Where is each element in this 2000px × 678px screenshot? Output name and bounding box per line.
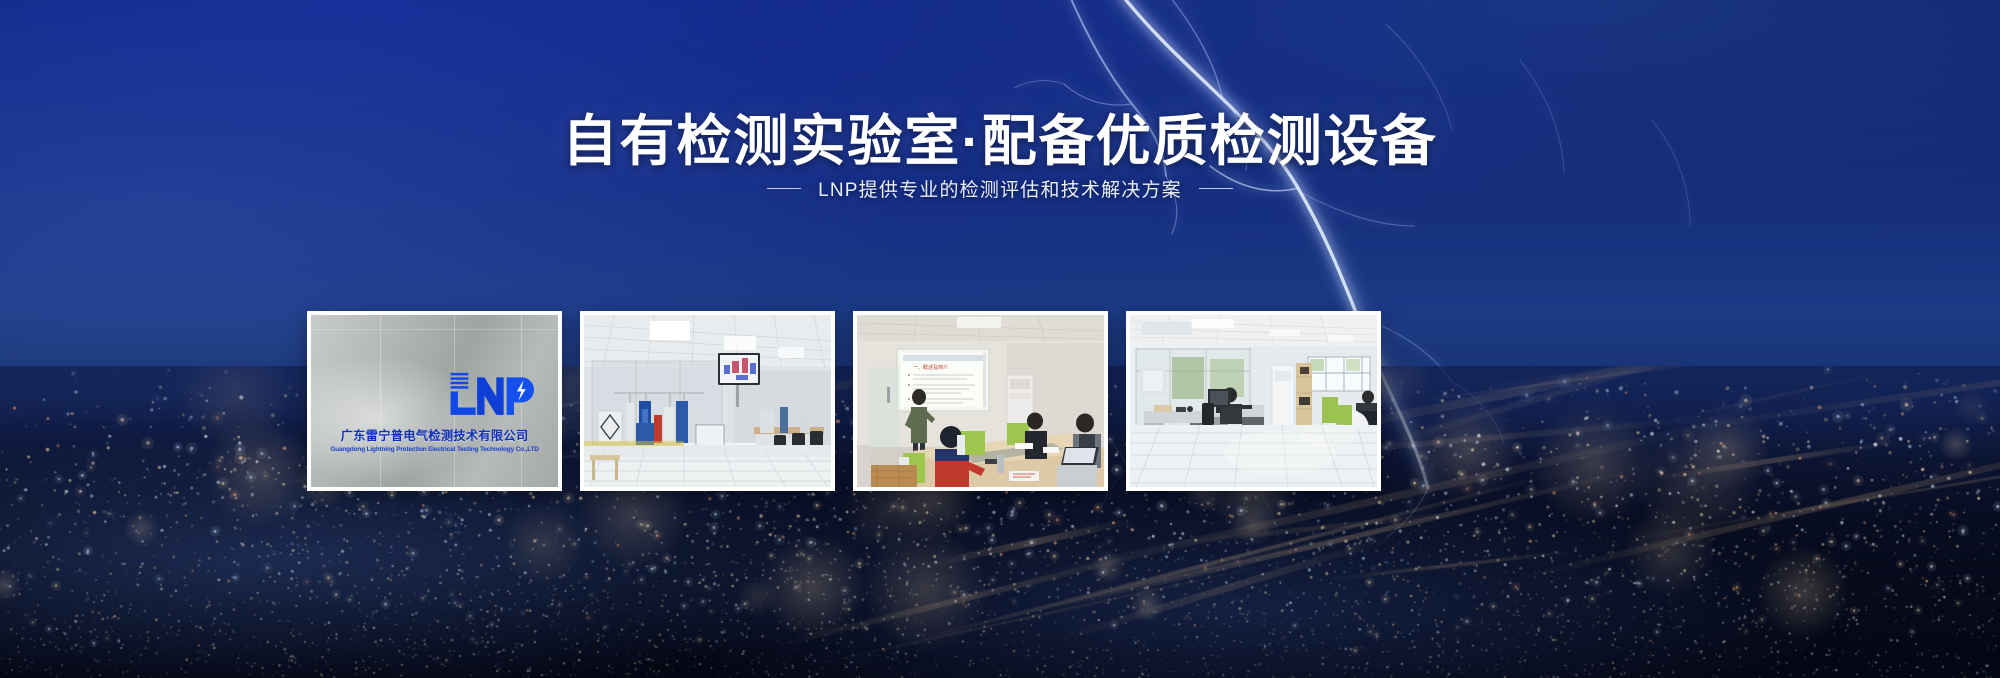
gallery-item-meeting-room[interactable]: 一、概述及简介 [853,311,1108,491]
lnp-company-name-cn: 广东雷宁普电气检测技术有限公司 [324,425,544,444]
photo-meeting-room: 一、概述及简介 [857,315,1104,487]
lnp-logo-icon [439,367,548,419]
gallery-item-hv-laboratory[interactable] [580,311,835,491]
svg-text:一、概述及简介: 一、概述及简介 [913,364,948,371]
page-title: 自有检测实验室·配备优质检测设备 [0,110,2000,173]
gallery-item-office-area[interactable] [1126,311,1381,491]
rule-left-icon [767,188,801,189]
banner-root: 自有检测实验室·配备优质检测设备 LNP提供专业的检测评估和技术解决方案 [0,0,2000,678]
page-subtitle: LNP提供专业的检测评估和技术解决方案 [0,175,2000,202]
rule-right-icon [1199,188,1233,189]
page-subtitle-text: LNP提供专业的检测评估和技术解决方案 [818,175,1182,202]
lnp-company-name-en: Guangdong Lightning Protection Electrica… [317,446,552,453]
photo-lnp-signage: 广东雷宁普电气检测技术有限公司 Guangdong Lightning Prot… [311,315,558,487]
gallery-item-lnp-signage[interactable]: 广东雷宁普电气检测技术有限公司 Guangdong Lightning Prot… [307,311,562,491]
photo-hv-laboratory [584,315,831,487]
gallery-strip: 广东雷宁普电气检测技术有限公司 Guangdong Lightning Prot… [307,311,1381,491]
photo-office-area [1130,315,1377,487]
